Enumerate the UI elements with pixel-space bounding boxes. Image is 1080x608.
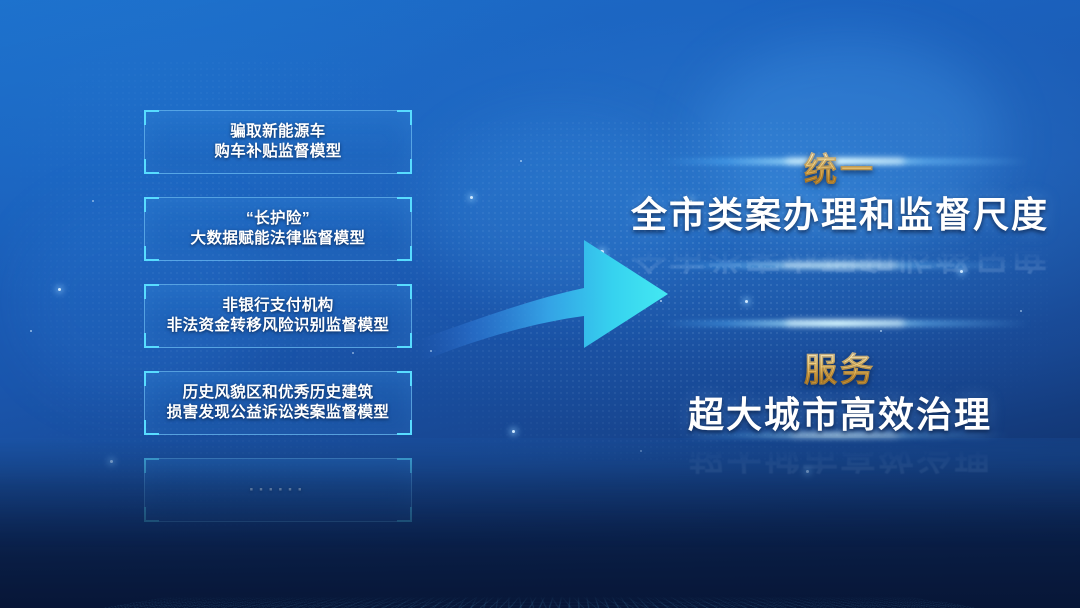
particle (520, 160, 522, 162)
slide-canvas: 骗取新能源车 购车补贴监督模型 “长护险” 大数据赋能法律监督模型 非银行支付机… (0, 0, 1080, 608)
message-body-reflection: 超大城市高效治理 (620, 432, 1060, 478)
particle (600, 250, 604, 254)
corner-accent-bottom-left (144, 420, 159, 435)
message-highlight: 服务 (804, 350, 876, 390)
corner-accent-bottom-right (397, 246, 412, 261)
model-list: 骗取新能源车 购车补贴监督模型 “长护险” 大数据赋能法律监督模型 非银行支付机… (144, 110, 412, 545)
message-panel: 统一 全市类案办理和监督尺度 全市类案办理和监督尺度 服务 超大城市高效治理 超… (620, 150, 1060, 550)
corner-accent-top-right (397, 284, 412, 299)
corner-accent-top-right (397, 371, 412, 386)
model-box-label: 非银行支付机构 非法资金转移风险识别监督模型 (167, 296, 390, 336)
corner-accent-top-left (144, 197, 159, 212)
particle (470, 196, 473, 199)
particle (92, 200, 94, 202)
model-box[interactable]: 骗取新能源车 购车补贴监督模型 (144, 110, 412, 174)
floor-grid-lines (0, 596, 1080, 608)
message-block: 服务 超大城市高效治理 超大城市高效治理 (620, 350, 1060, 478)
corner-accent-bottom-left (144, 333, 159, 348)
particle (58, 288, 61, 291)
model-box-label: 历史风貌区和优秀历史建筑 损害发现公益诉讼类案监督模型 (167, 383, 390, 423)
particle (430, 350, 432, 352)
corner-accent-top-left (144, 110, 159, 125)
corner-accent-top-right (397, 110, 412, 125)
message-body: 全市类案办理和监督尺度 (620, 192, 1060, 238)
model-box-more[interactable]: ······ (144, 458, 412, 522)
corner-accent-bottom-left (144, 246, 159, 261)
corner-accent-bottom-right (397, 507, 412, 522)
particle (512, 430, 515, 433)
corner-accent-bottom-right (397, 159, 412, 174)
particle (110, 460, 113, 463)
corner-accent-top-right (397, 197, 412, 212)
corner-accent-bottom-left (144, 159, 159, 174)
corner-accent-top-left (144, 458, 159, 473)
corner-accent-top-right (397, 458, 412, 473)
model-box[interactable]: 非银行支付机构 非法资金转移风险识别监督模型 (144, 284, 412, 348)
corner-accent-bottom-right (397, 333, 412, 348)
message-block: 统一 全市类案办理和监督尺度 全市类案办理和监督尺度 (620, 150, 1060, 278)
corner-accent-top-left (144, 371, 159, 386)
corner-accent-bottom-right (397, 420, 412, 435)
model-box[interactable]: 历史风貌区和优秀历史建筑 损害发现公益诉讼类案监督模型 (144, 371, 412, 435)
message-body: 超大城市高效治理 (620, 392, 1060, 438)
corner-accent-bottom-left (144, 507, 159, 522)
corner-accent-top-left (144, 284, 159, 299)
model-box-label: 骗取新能源车 购车补贴监督模型 (214, 122, 341, 162)
model-box-label: ······ (249, 480, 307, 500)
model-box[interactable]: “长护险” 大数据赋能法律监督模型 (144, 197, 412, 261)
message-highlight: 统一 (804, 150, 876, 190)
model-box-label: “长护险” 大数据赋能法律监督模型 (191, 209, 366, 249)
particle (30, 330, 32, 332)
message-body-reflection: 全市类案办理和监督尺度 (620, 232, 1060, 278)
